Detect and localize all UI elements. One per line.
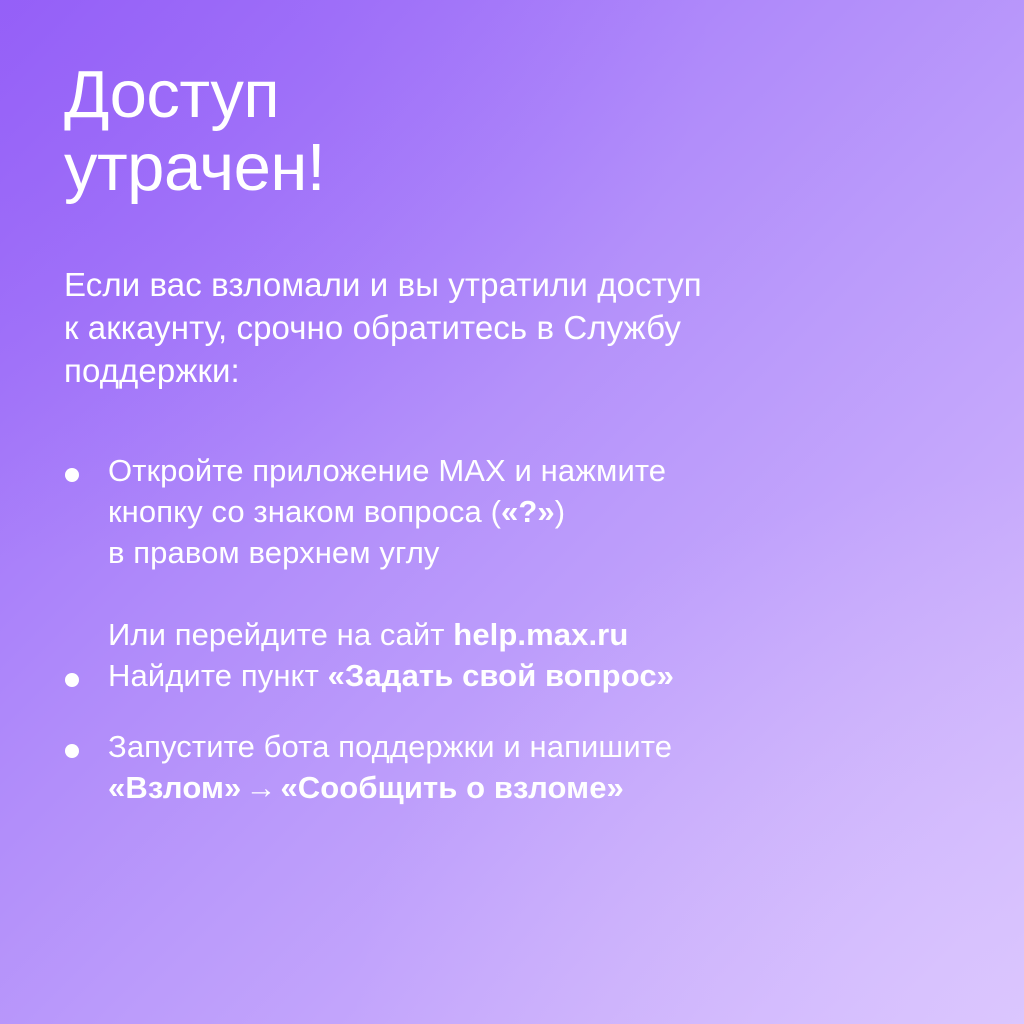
step-3-emphasis: «Взлом»	[108, 770, 241, 805]
support-site-url[interactable]: help.max.ru	[453, 617, 628, 652]
step-2-emphasis: «Задать свой вопрос»	[328, 658, 674, 693]
step-1-text-before: Откройте приложение MAX и нажмите кнопку…	[108, 453, 666, 529]
step-2-text: Найдите пункт «Задать свой вопрос»	[108, 656, 808, 697]
list-item: Найдите пункт «Задать свой вопрос»	[64, 656, 808, 697]
substep-website-note: Или перейдите на сайт help.max.ru	[64, 615, 808, 656]
substep-text-before: Или перейдите на сайт	[108, 617, 453, 652]
poster-canvas: Доступ утрачен! Если вас взломали и вы у…	[0, 0, 1024, 1024]
step-3-text-before: Запустите бота поддержки и напишите	[108, 729, 672, 764]
page-title: Доступ утрачен!	[64, 58, 624, 204]
bullet-dot-icon	[65, 468, 79, 482]
steps-list: Откройте приложение MAX и нажмите кнопку…	[64, 451, 960, 809]
step-3-emphasis-2: «Сообщить о взломе»	[280, 770, 623, 805]
substep-text: Или перейдите на сайт help.max.ru	[108, 615, 808, 656]
step-1-emphasis: «?»	[501, 494, 555, 529]
poster-content: Доступ утрачен! Если вас взломали и вы у…	[0, 0, 1024, 809]
step-1-text: Откройте приложение MAX и нажмите кнопку…	[108, 451, 808, 574]
arrow-right-icon: →	[241, 770, 280, 805]
bullet-dot-icon	[65, 673, 79, 687]
list-item: Откройте приложение MAX и нажмите кнопку…	[64, 451, 808, 574]
step-3-text: Запустите бота поддержки и напишите «Взл…	[108, 727, 808, 809]
intro-paragraph: Если вас взломали и вы утратили доступ к…	[64, 264, 754, 393]
bullet-dot-icon	[65, 744, 79, 758]
list-item: Запустите бота поддержки и напишите «Взл…	[64, 727, 808, 809]
step-2-text-before: Найдите пункт	[108, 658, 328, 693]
